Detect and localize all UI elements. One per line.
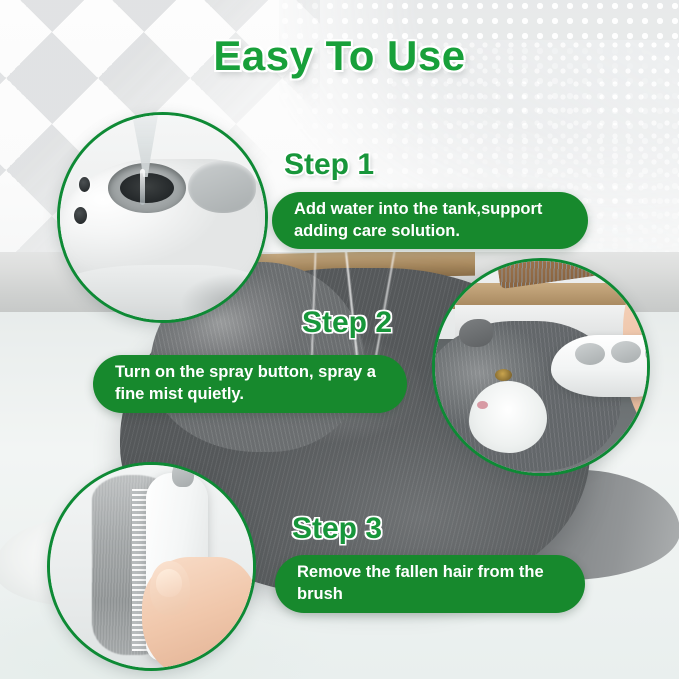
step-1-description-text: Add water into the tank,support adding c… xyxy=(294,199,588,243)
step-2-label: Step 2 xyxy=(302,306,392,340)
step-2-description-text: Turn on the spray button, spray a fine m… xyxy=(115,362,407,406)
infographic-canvas: Easy To Use xyxy=(0,0,679,679)
water-stream xyxy=(140,169,145,205)
cat-being-groomed-photo xyxy=(435,261,647,473)
step-1-photo-circle xyxy=(57,112,268,323)
spray-button xyxy=(575,343,605,365)
step-1-description-pill: Add water into the tank,support adding c… xyxy=(272,192,588,249)
cat-eye xyxy=(495,369,512,381)
device-tank-opening xyxy=(120,173,174,203)
cat-ear xyxy=(459,319,493,347)
device-grey-panel xyxy=(188,161,256,213)
brush-top-nub xyxy=(172,462,194,487)
page-title: Easy To Use xyxy=(0,32,679,80)
step-3-description-text: Remove the fallen hair from the brush xyxy=(297,562,585,606)
thumb-nail xyxy=(156,569,182,597)
device-vent-upper xyxy=(79,177,90,192)
step-1-label: Step 1 xyxy=(284,148,374,182)
step-3-photo-circle xyxy=(47,462,256,671)
device-vent-lower xyxy=(74,207,87,224)
step-2-photo-circle xyxy=(432,258,650,476)
device-water-tank-filling-photo xyxy=(60,115,265,320)
step-3-description-pill: Remove the fallen hair from the brush xyxy=(275,555,585,613)
device-button-middle xyxy=(611,341,641,363)
hand-holding-brush-with-fur-photo xyxy=(50,465,253,668)
step-3-label: Step 3 xyxy=(292,512,382,546)
cat-white-bib xyxy=(469,381,547,453)
cat-nose xyxy=(477,401,488,409)
step-2-description-pill: Turn on the spray button, spray a fine m… xyxy=(93,355,407,413)
device-shadow xyxy=(180,273,268,323)
